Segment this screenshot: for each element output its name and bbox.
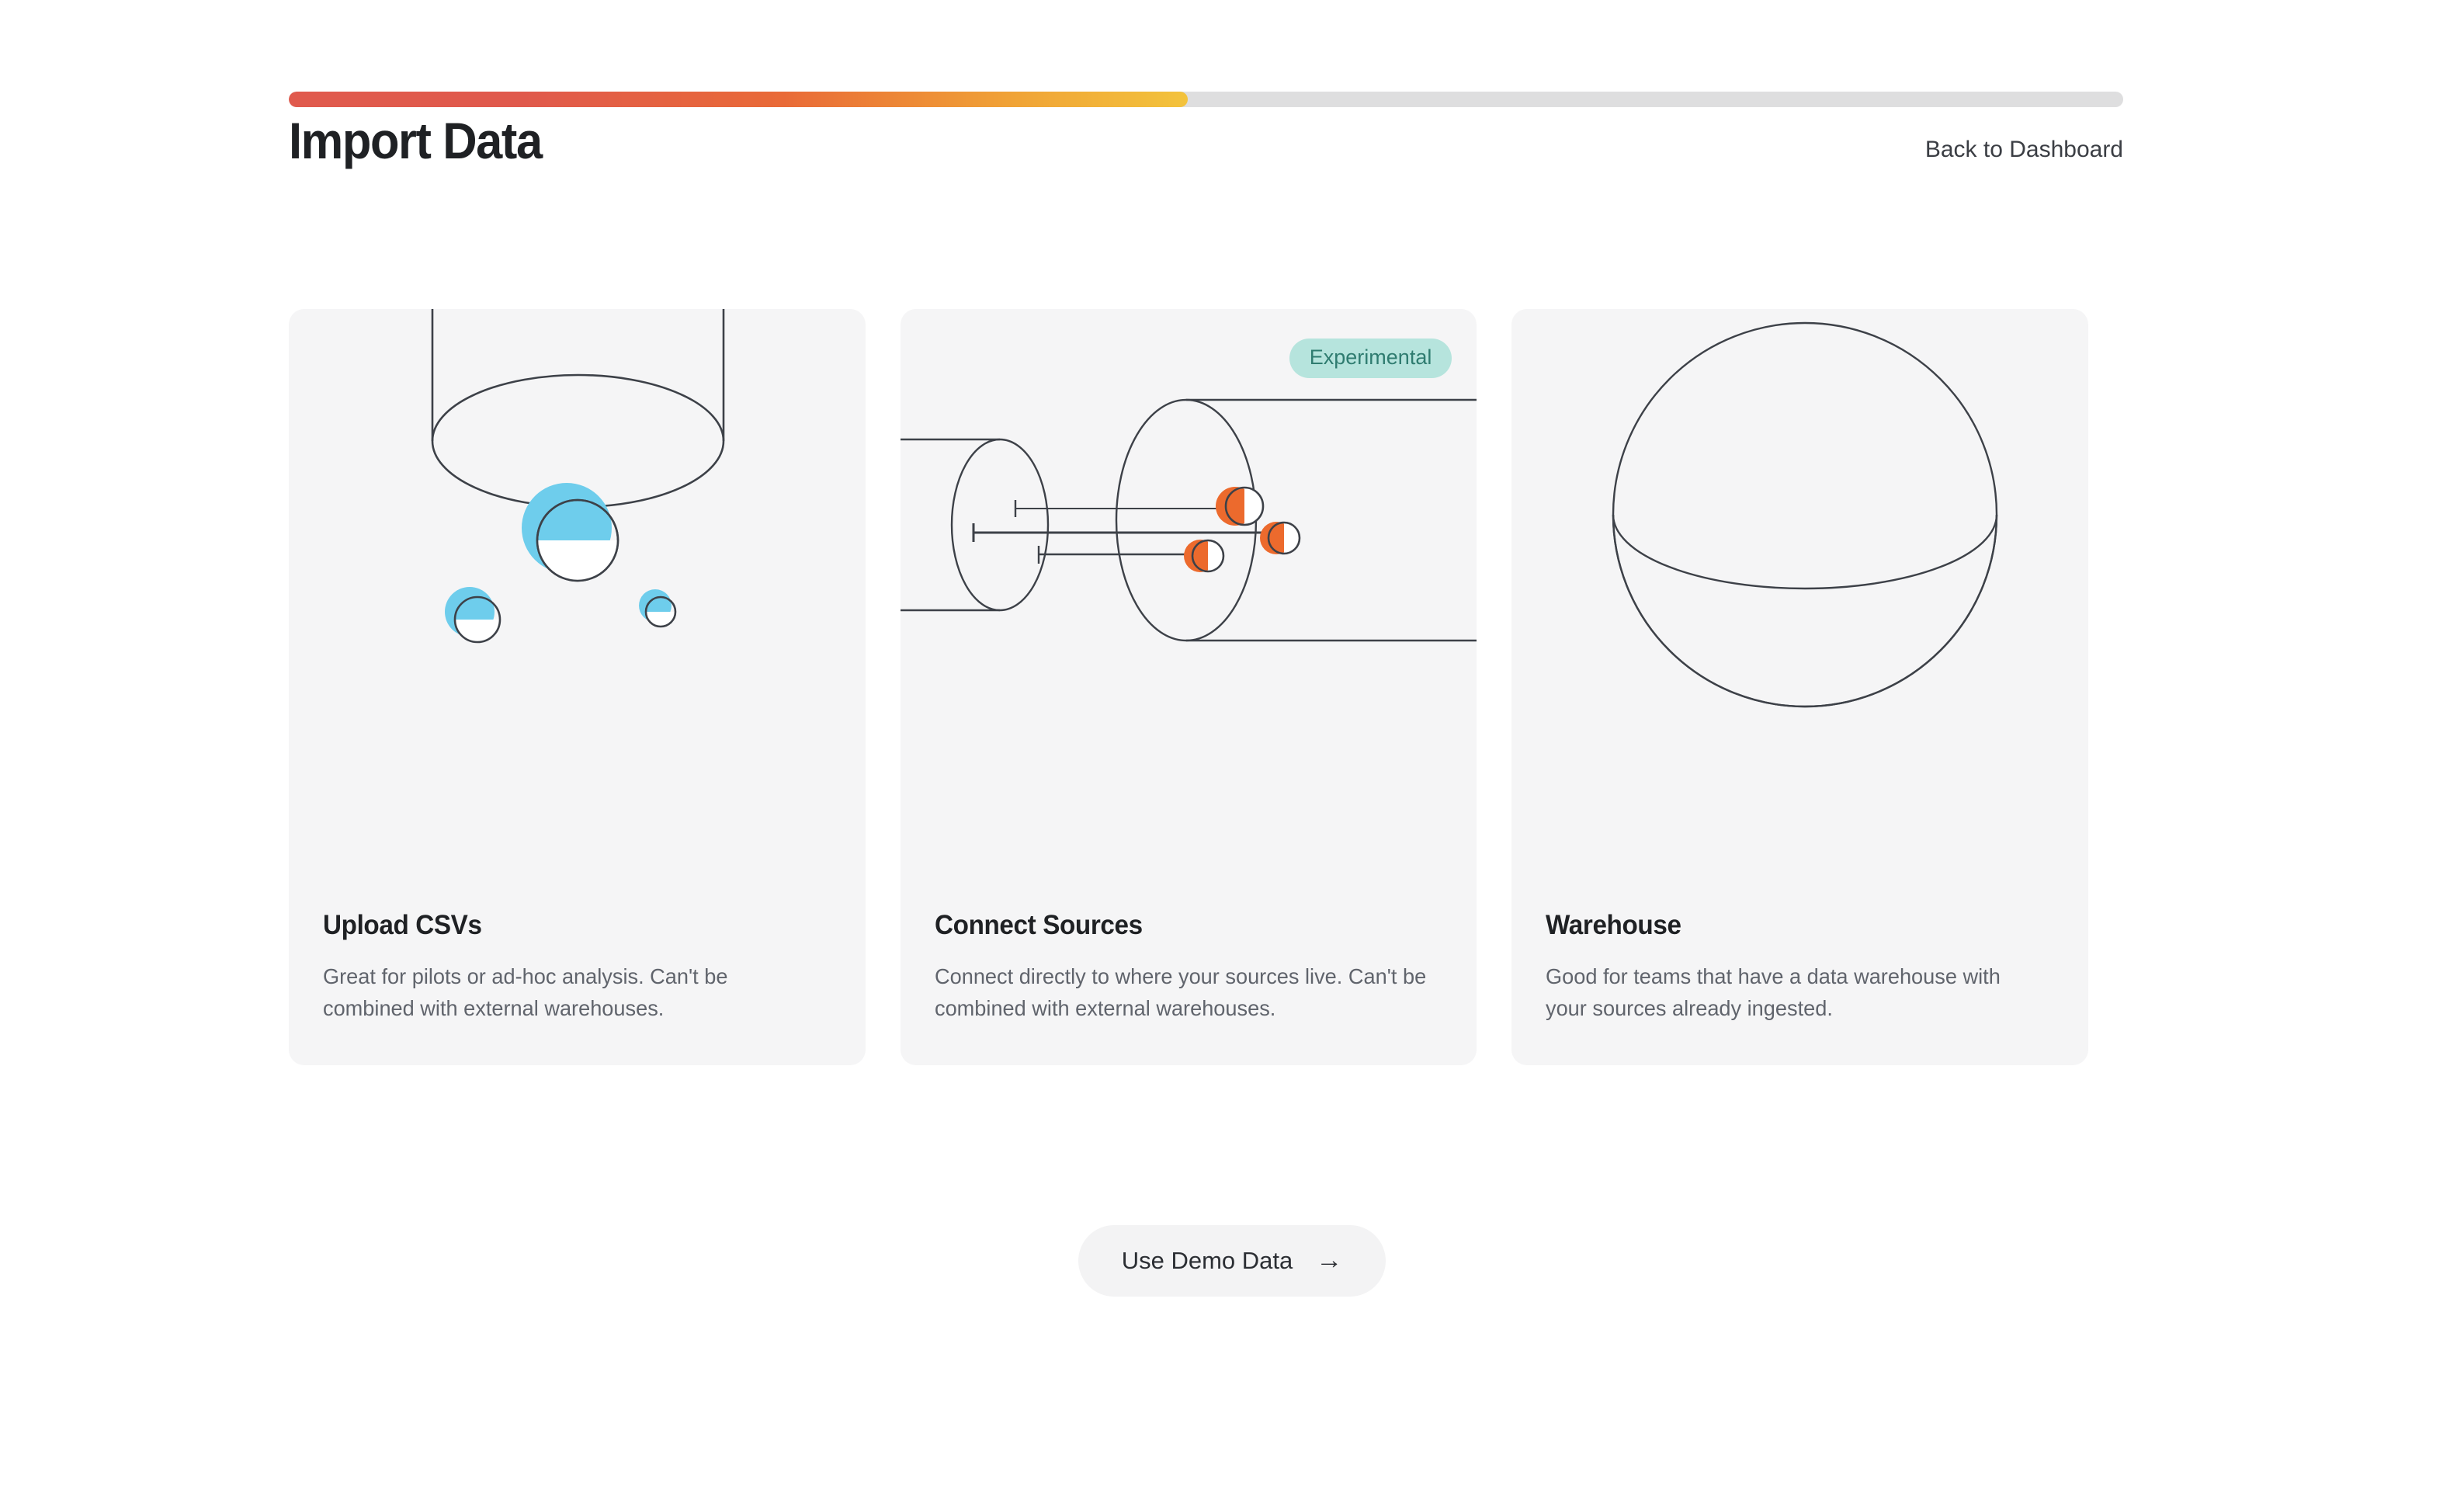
card-text-block: Warehouse Good for teams that have a dat… bbox=[1546, 910, 2054, 1025]
import-data-page: Import Data Back to Dashboard bbox=[0, 0, 2464, 1500]
card-title: Connect Sources bbox=[935, 910, 1418, 941]
use-demo-data-button[interactable]: Use Demo Data → bbox=[1078, 1225, 1386, 1297]
arrow-right-icon: → bbox=[1316, 1247, 1342, 1273]
progress-fill bbox=[289, 92, 1188, 107]
page-title: Import Data bbox=[289, 115, 542, 166]
import-option-card-connect-sources[interactable]: Experimental bbox=[901, 309, 1477, 1065]
pipeline-nodes-illustration bbox=[901, 309, 1477, 868]
card-description: Great for pilots or ad-hoc analysis. Can… bbox=[323, 961, 816, 1025]
card-title: Upload CSVs bbox=[323, 910, 806, 941]
use-demo-data-label: Use Demo Data bbox=[1122, 1248, 1293, 1273]
import-options-list: Upload CSVs Great for pilots or ad-hoc a… bbox=[289, 309, 2088, 1065]
back-to-dashboard-link[interactable]: Back to Dashboard bbox=[1925, 137, 2123, 163]
page-header: Import Data Back to Dashboard bbox=[289, 115, 2123, 200]
onboarding-progress-bar bbox=[289, 92, 2123, 107]
card-text-block: Connect Sources Connect directly to wher… bbox=[935, 910, 1443, 1025]
card-title: Warehouse bbox=[1546, 910, 2028, 941]
wireframe-sphere-illustration bbox=[1511, 309, 2088, 868]
card-text-block: Upload CSVs Great for pilots or ad-hoc a… bbox=[323, 910, 831, 1025]
import-option-card-warehouse[interactable]: Warehouse Good for teams that have a dat… bbox=[1511, 309, 2088, 1065]
card-description: Connect directly to where your sources l… bbox=[935, 961, 1428, 1025]
card-description: Good for teams that have a data warehous… bbox=[1546, 961, 2039, 1025]
import-option-card-upload-csvs[interactable]: Upload CSVs Great for pilots or ad-hoc a… bbox=[289, 309, 866, 1065]
demo-button-row: Use Demo Data → bbox=[0, 1225, 2464, 1297]
cylinder-bubbles-illustration bbox=[289, 309, 866, 868]
status-badge-experimental: Experimental bbox=[1289, 339, 1452, 378]
